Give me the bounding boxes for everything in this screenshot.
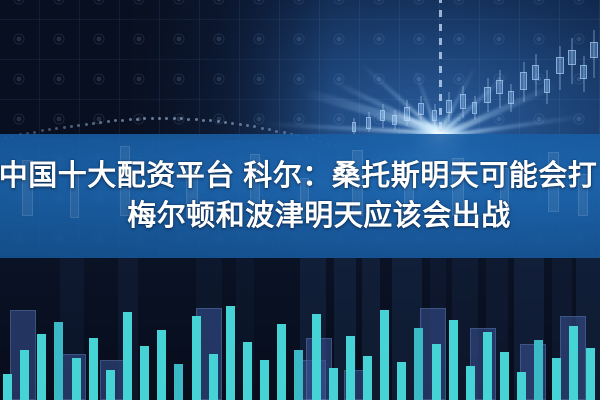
bar-foreground [380,310,389,400]
bar-foreground [20,350,29,400]
headline-line-2: 梅尔顿和波津明天应该会出战 [127,196,511,236]
bar-foreground [157,330,166,400]
bar-foreground [432,344,441,400]
bar-foreground [277,324,286,400]
headline-line-1: 中国十大配资平台 科尔：桑托斯明天可能会打 [0,156,597,196]
bar-chart-foreground-series [0,258,600,400]
bar-foreground [363,356,372,400]
bar-foreground [346,336,355,400]
bar-foreground [552,358,561,400]
bar-foreground [140,346,149,400]
bar-foreground [534,340,543,400]
bar-foreground [483,332,492,400]
bar-foreground [329,368,338,400]
bar-foreground [569,326,578,400]
bar-foreground [500,352,509,400]
bar-foreground [209,354,218,400]
bar-foreground [312,314,321,400]
headline-text-block: 中国十大配资平台 科尔：桑托斯明天可能会打 梅尔顿和波津明天应该会出战 [0,134,600,258]
candlestick [590,30,598,78]
bar-foreground [586,348,595,400]
bar-foreground [106,370,115,400]
bar-foreground [174,364,183,400]
bar-foreground [260,360,269,400]
bar-foreground [243,342,252,400]
bar-foreground [72,358,81,400]
stock-market-news-banner: 中国十大配资平台 科尔：桑托斯明天可能会打 梅尔顿和波津明天应该会出战 [0,0,600,400]
bar-foreground [37,334,46,400]
bar-foreground [192,316,201,400]
bar-foreground [89,338,98,400]
bar-foreground [414,328,423,400]
bar-foreground [517,372,526,400]
bar-foreground [397,362,406,400]
bar-foreground [449,320,458,400]
bar-foreground [54,322,63,400]
bar-foreground [294,350,303,400]
candlestick [580,56,587,92]
bar-foreground [3,374,12,400]
bar-foreground [123,312,132,400]
bar-foreground [466,366,475,400]
bar-foreground [226,306,235,400]
